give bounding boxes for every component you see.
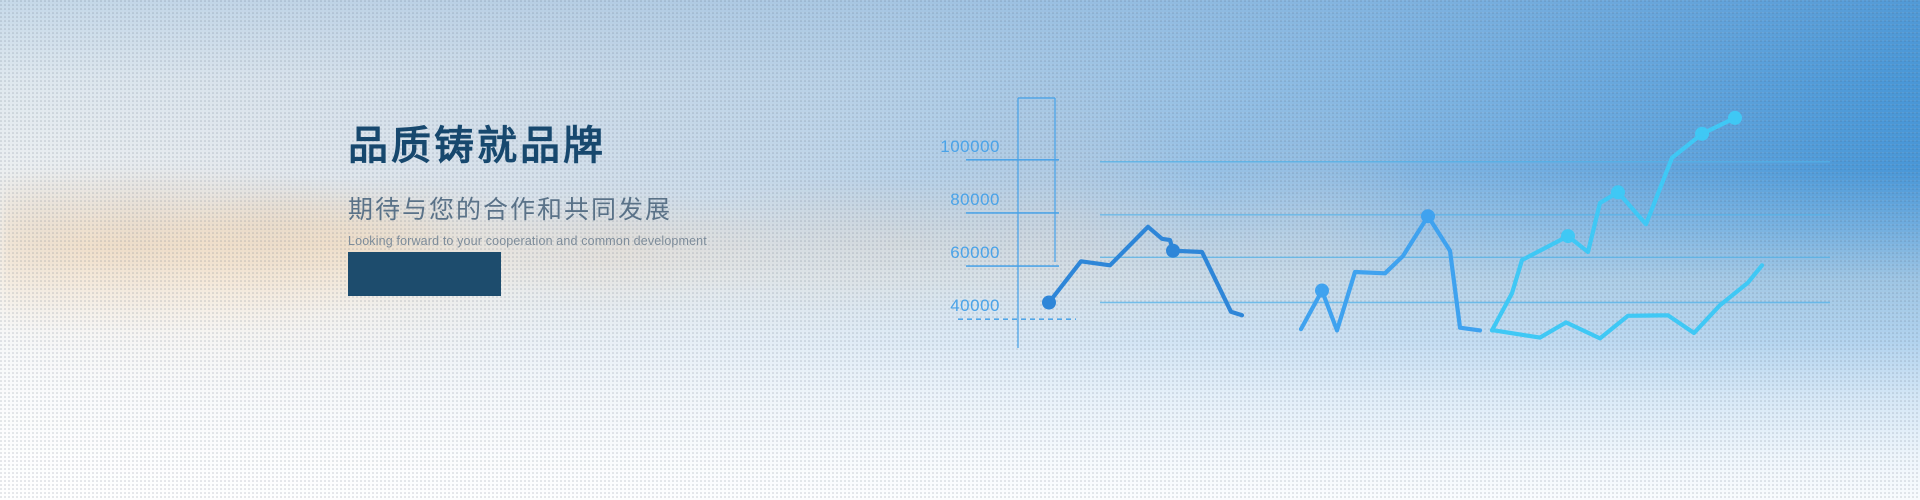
chart-series-line bbox=[1301, 216, 1480, 330]
hero-banner: 400006000080000100000 品质铸就品牌 期待与您的合作和共同发… bbox=[0, 0, 1920, 500]
chart-y-tick-label: 80000 bbox=[950, 190, 1000, 209]
cta-button[interactable] bbox=[348, 252, 501, 296]
chart-data-point-marker bbox=[1611, 185, 1625, 199]
page-title: 品质铸就品牌 bbox=[348, 124, 768, 168]
chart-data-point-marker bbox=[1166, 244, 1180, 258]
chart-data-point-marker bbox=[1695, 127, 1709, 141]
chart-data-point-marker bbox=[1042, 296, 1056, 310]
chart-y-tick-label: 100000 bbox=[940, 137, 1000, 156]
subtitle-en: Looking forward to your cooperation and … bbox=[348, 234, 768, 249]
chart-y-tick-label: 40000 bbox=[950, 296, 1000, 315]
chart-y-tick-label: 60000 bbox=[950, 243, 1000, 262]
chart-data-point-marker bbox=[1421, 209, 1435, 223]
chart-data-point-marker bbox=[1561, 229, 1575, 243]
subtitle-cn: 期待与您的合作和共同发展 bbox=[348, 196, 768, 225]
chart-data-point-marker bbox=[1728, 111, 1742, 125]
chart-data-point-marker bbox=[1315, 284, 1329, 298]
hero-copy-block: 品质铸就品牌 期待与您的合作和共同发展 Looking forward to y… bbox=[348, 124, 768, 249]
chart-series-line bbox=[1492, 118, 1735, 331]
chart-svg: 400006000080000100000 bbox=[0, 0, 1920, 500]
growth-line-chart: 400006000080000100000 bbox=[0, 0, 1920, 500]
